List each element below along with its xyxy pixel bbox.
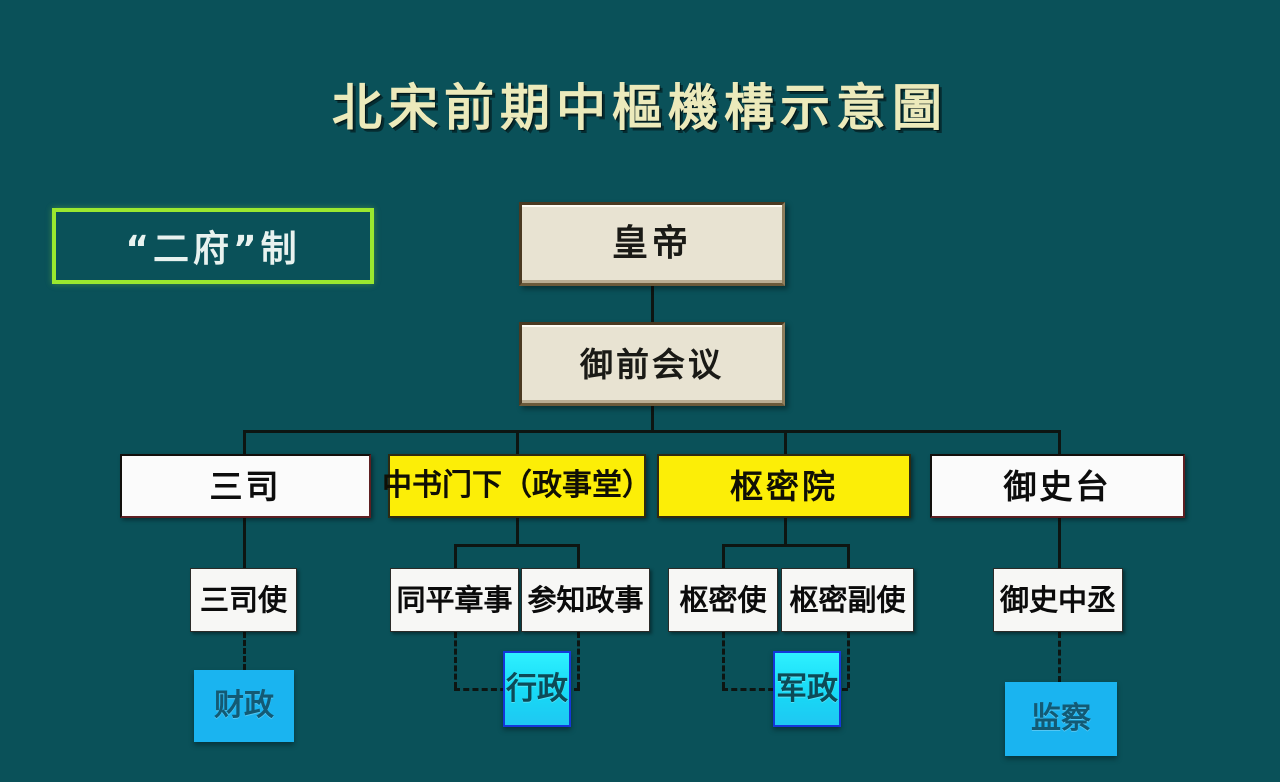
node-shumi-shi[interactable]: 枢密使 — [668, 568, 778, 632]
node-sansi-shi[interactable]: 三司使 — [190, 568, 297, 632]
connector-bus-horizontal — [243, 430, 1061, 433]
connector-shumiyuan-stem — [784, 518, 787, 544]
node-emperor-label: 皇帝 — [612, 226, 692, 262]
node-sansi-label: 三司 — [210, 470, 282, 503]
node-imperial-council-label: 御前会议 — [580, 348, 724, 381]
node-canzhi-zhengshi[interactable]: 参知政事 — [521, 568, 650, 632]
node-yushitai-label: 御史台 — [1004, 470, 1112, 503]
node-sansi[interactable]: 三司 — [120, 454, 371, 518]
erfu-system-legend: “二府”制 — [52, 208, 374, 284]
node-junzheng[interactable]: 军政 — [773, 651, 841, 727]
node-xingzheng[interactable]: 行政 — [503, 651, 571, 727]
node-shumiyuan-label: 枢密院 — [730, 470, 838, 503]
connector-council-to-bus — [651, 404, 654, 432]
node-yushi-zhongcheng-label: 御史中丞 — [1000, 586, 1116, 615]
page-title: 北宋前期中樞機構示意圖 — [0, 68, 1280, 140]
node-zhongshu-menxia-label: 中书门下（政事堂） — [382, 471, 652, 501]
node-sansi-shi-label: 三司使 — [200, 586, 287, 615]
node-shumi-fushi[interactable]: 枢密副使 — [781, 568, 914, 632]
node-shumiyuan[interactable]: 枢密院 — [657, 454, 911, 518]
node-caizheng-label: 财政 — [214, 691, 274, 721]
node-caizheng[interactable]: 财政 — [194, 670, 294, 742]
diagram-canvas: 北宋前期中樞機構示意圖 “二府”制 皇帝 御前会议 三司 — [0, 0, 1280, 782]
connector-yushizhongcheng-to-jiancha — [1058, 632, 1061, 682]
connector-canzhizhengshi-dashed-down — [577, 632, 580, 688]
node-canzhi-zhengshi-label: 参知政事 — [527, 586, 643, 615]
node-yushitai[interactable]: 御史台 — [930, 454, 1185, 518]
connector-zhongshu-to-tongpingzhangshi — [454, 544, 457, 568]
connector-bus-to-sansi — [243, 430, 246, 456]
node-xingzheng-label: 行政 — [506, 674, 568, 705]
node-junzheng-label: 军政 — [776, 674, 838, 705]
connector-yushitai-to-yushizhongcheng — [1058, 518, 1061, 568]
node-jiancha[interactable]: 监察 — [1005, 682, 1117, 756]
connector-shumiyuan-split-bar — [722, 544, 848, 547]
connector-sansishi-to-caizheng — [243, 632, 246, 670]
connector-tongpingzhangshi-dashed-down — [454, 632, 457, 688]
node-shumi-fushi-label: 枢密副使 — [789, 586, 905, 615]
node-jiancha-label: 监察 — [1031, 704, 1091, 734]
connector-shumishi-dashed-down — [722, 632, 725, 688]
connector-zhongshu-stem — [516, 518, 519, 544]
node-yushi-zhongcheng[interactable]: 御史中丞 — [993, 568, 1123, 632]
node-imperial-council[interactable]: 御前会议 — [519, 322, 785, 406]
connector-shumiyuan-to-shumishi — [722, 544, 725, 568]
connector-emperor-to-council — [651, 285, 654, 323]
connector-shumiyuan-to-shumifushi — [847, 544, 850, 568]
node-emperor[interactable]: 皇帝 — [519, 202, 785, 286]
connector-sansi-to-sansishi — [243, 518, 246, 568]
connector-bus-to-yushitai — [1058, 430, 1061, 456]
node-shumi-shi-label: 枢密使 — [679, 586, 766, 615]
node-tong-pingzhangshi-label: 同平章事 — [396, 586, 512, 615]
connector-bus-to-zhongshu — [516, 430, 519, 456]
connector-zhongshu-split-bar — [454, 544, 580, 547]
connector-zhongshu-to-canzhizhengshi — [577, 544, 580, 568]
connector-bus-to-shumiyuan — [784, 430, 787, 456]
node-zhongshu-menxia[interactable]: 中书门下（政事堂） — [388, 454, 646, 518]
node-tong-pingzhangshi[interactable]: 同平章事 — [390, 568, 519, 632]
connector-shumifushi-dashed-down — [847, 632, 850, 688]
